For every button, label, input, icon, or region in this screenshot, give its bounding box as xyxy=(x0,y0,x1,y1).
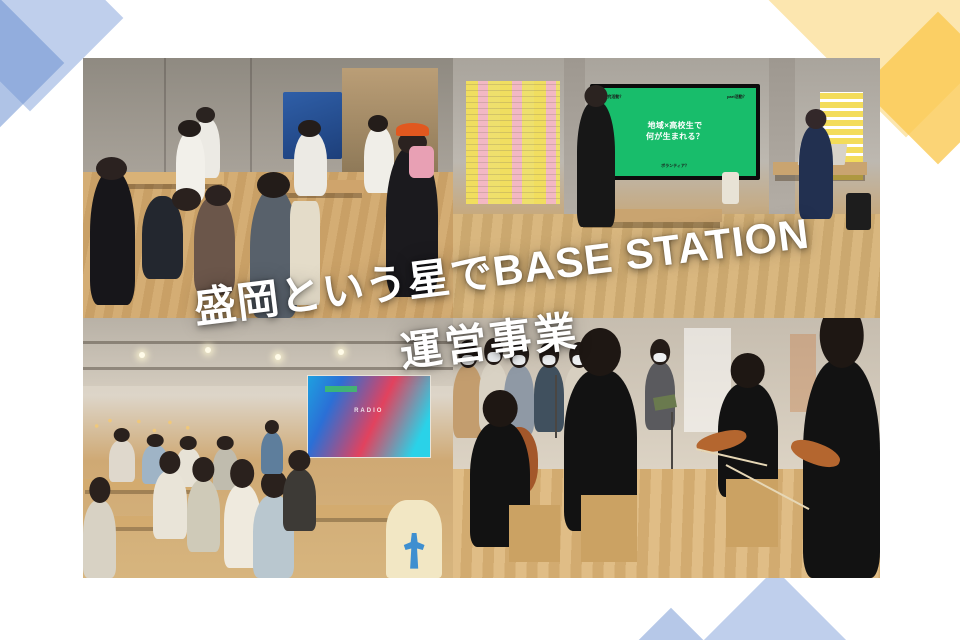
slide-canvas: 探究活動？ part活動？ 地域×高校生で 何が生まれる？ ボランティア？ xyxy=(0,0,960,640)
tote-bag xyxy=(290,201,320,305)
person-head xyxy=(289,450,310,471)
screen-note-bottom: ボランティア？ xyxy=(661,163,689,169)
person-head xyxy=(114,428,131,442)
face-mask xyxy=(487,352,500,362)
screen-main-line2: 何が生まれる？ xyxy=(646,132,704,143)
decor-diamond-bottom-right-1 xyxy=(669,569,881,640)
paper-stand xyxy=(722,172,739,203)
photo-presentation: 探究活動？ part活動？ 地域×高校生で 何が生まれる？ ボランティア？ xyxy=(453,58,880,318)
person-audience xyxy=(534,365,564,433)
person-head xyxy=(178,120,200,137)
person-attendee xyxy=(153,471,186,539)
wall-seam xyxy=(250,58,252,172)
person-head xyxy=(585,85,608,107)
person-standing xyxy=(294,131,327,196)
person-head xyxy=(230,459,254,487)
person-head xyxy=(89,477,110,504)
person-head xyxy=(196,107,215,123)
person-presenter xyxy=(261,432,283,474)
person-head xyxy=(298,120,320,137)
photo-collage: 探究活動？ part活動？ 地域×高校生で 何が生まれる？ ボランティア？ xyxy=(83,58,880,578)
string-lights xyxy=(90,417,201,435)
face-mask xyxy=(542,355,555,364)
face-mask xyxy=(654,353,667,362)
person-presenter xyxy=(577,102,615,227)
sticky-note-wall xyxy=(466,81,560,203)
person-head xyxy=(730,353,765,387)
iwate-logo-icon xyxy=(400,533,429,569)
concrete-column xyxy=(769,58,795,219)
person-head xyxy=(193,457,214,482)
music-stand-pole xyxy=(671,412,673,469)
ceiling-light xyxy=(139,352,145,358)
person-head xyxy=(217,436,234,450)
photo-seminar: RADIO xyxy=(83,318,453,578)
screen-main-line1: 地域×高校生で xyxy=(648,121,703,132)
person-attendee xyxy=(83,500,116,578)
ceiling-light xyxy=(205,347,211,353)
stool xyxy=(581,495,637,563)
presentation-screen: 探究活動？ part活動？ 地域×高校生で 何が生まれる？ ボランティア？ xyxy=(590,84,761,180)
music-stand-pole xyxy=(555,375,557,437)
screen-note-top-right: part活動？ xyxy=(727,94,747,100)
photo-workshop xyxy=(83,58,453,318)
stool xyxy=(509,505,560,562)
person-head xyxy=(483,390,518,427)
person-seated xyxy=(194,196,235,295)
pink-scarf xyxy=(409,146,435,177)
person-head xyxy=(180,436,197,449)
orange-cap xyxy=(396,123,429,136)
projector-slide: RADIO xyxy=(307,375,431,458)
face-mask xyxy=(461,355,474,365)
photo-ensemble xyxy=(453,318,880,578)
face-mask xyxy=(513,355,526,365)
person-head xyxy=(579,328,621,376)
slide-text: RADIO xyxy=(308,408,430,414)
person-foreground xyxy=(90,170,134,305)
wall-seam xyxy=(164,58,166,172)
person-attendee xyxy=(283,469,316,531)
ceiling-beam xyxy=(83,341,453,344)
speaker-box xyxy=(846,193,872,229)
person-attendee xyxy=(187,479,220,552)
person-attendee xyxy=(109,440,135,482)
person-violinist-foreground xyxy=(803,360,880,578)
ceiling-beam xyxy=(83,367,453,370)
person-head xyxy=(147,434,164,447)
person-head xyxy=(805,109,826,130)
screen-content: 探究活動？ part活動？ 地域×高校生で 何が生まれる？ ボランティア？ xyxy=(594,88,757,176)
person-staff-tshirt xyxy=(386,500,442,578)
person-student xyxy=(799,126,833,220)
person-head xyxy=(265,420,279,434)
wood-floor xyxy=(453,214,880,318)
